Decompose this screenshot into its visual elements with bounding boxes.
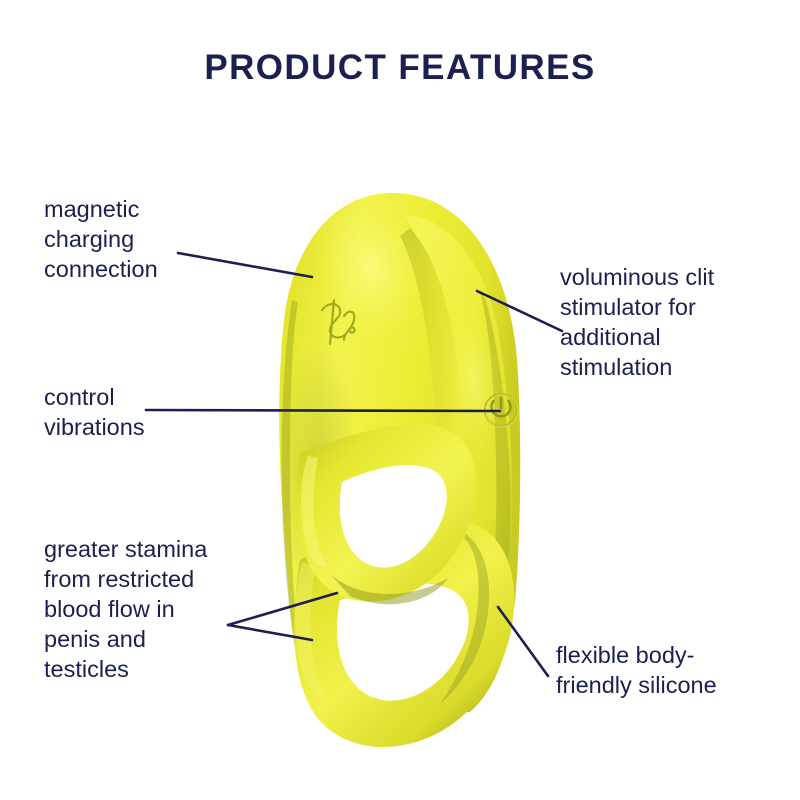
- product-features-infographic: PRODUCT FEATURES: [0, 0, 800, 800]
- callout-control-vibrations: control vibrations: [44, 382, 145, 442]
- callout-line: friendly silicone: [556, 670, 717, 700]
- callout-line: magnetic: [44, 194, 158, 224]
- callout-greater-stamina: greater stamina from restricted blood fl…: [44, 534, 207, 684]
- callout-line: stimulation: [560, 352, 714, 382]
- callout-line: control: [44, 382, 145, 412]
- callout-magnetic-charging-connection: magnetic charging connection: [44, 194, 158, 284]
- callout-line: voluminous clit: [560, 262, 714, 292]
- callout-line: additional: [560, 322, 714, 352]
- callout-line: from restricted: [44, 564, 207, 594]
- callout-line: vibrations: [44, 412, 145, 442]
- callout-line: penis and: [44, 624, 207, 654]
- callout-line: flexible body-: [556, 640, 717, 670]
- callout-flexible-body-friendly-silicone: flexible body- friendly silicone: [556, 640, 717, 700]
- callout-voluminous-clit-stimulator: voluminous clit stimulator for additiona…: [560, 262, 714, 382]
- callout-line: charging: [44, 224, 158, 254]
- callout-line: greater stamina: [44, 534, 207, 564]
- callout-line: connection: [44, 254, 158, 284]
- callout-line: blood flow in: [44, 594, 207, 624]
- callout-line: testicles: [44, 654, 207, 684]
- callout-line: stimulator for: [560, 292, 714, 322]
